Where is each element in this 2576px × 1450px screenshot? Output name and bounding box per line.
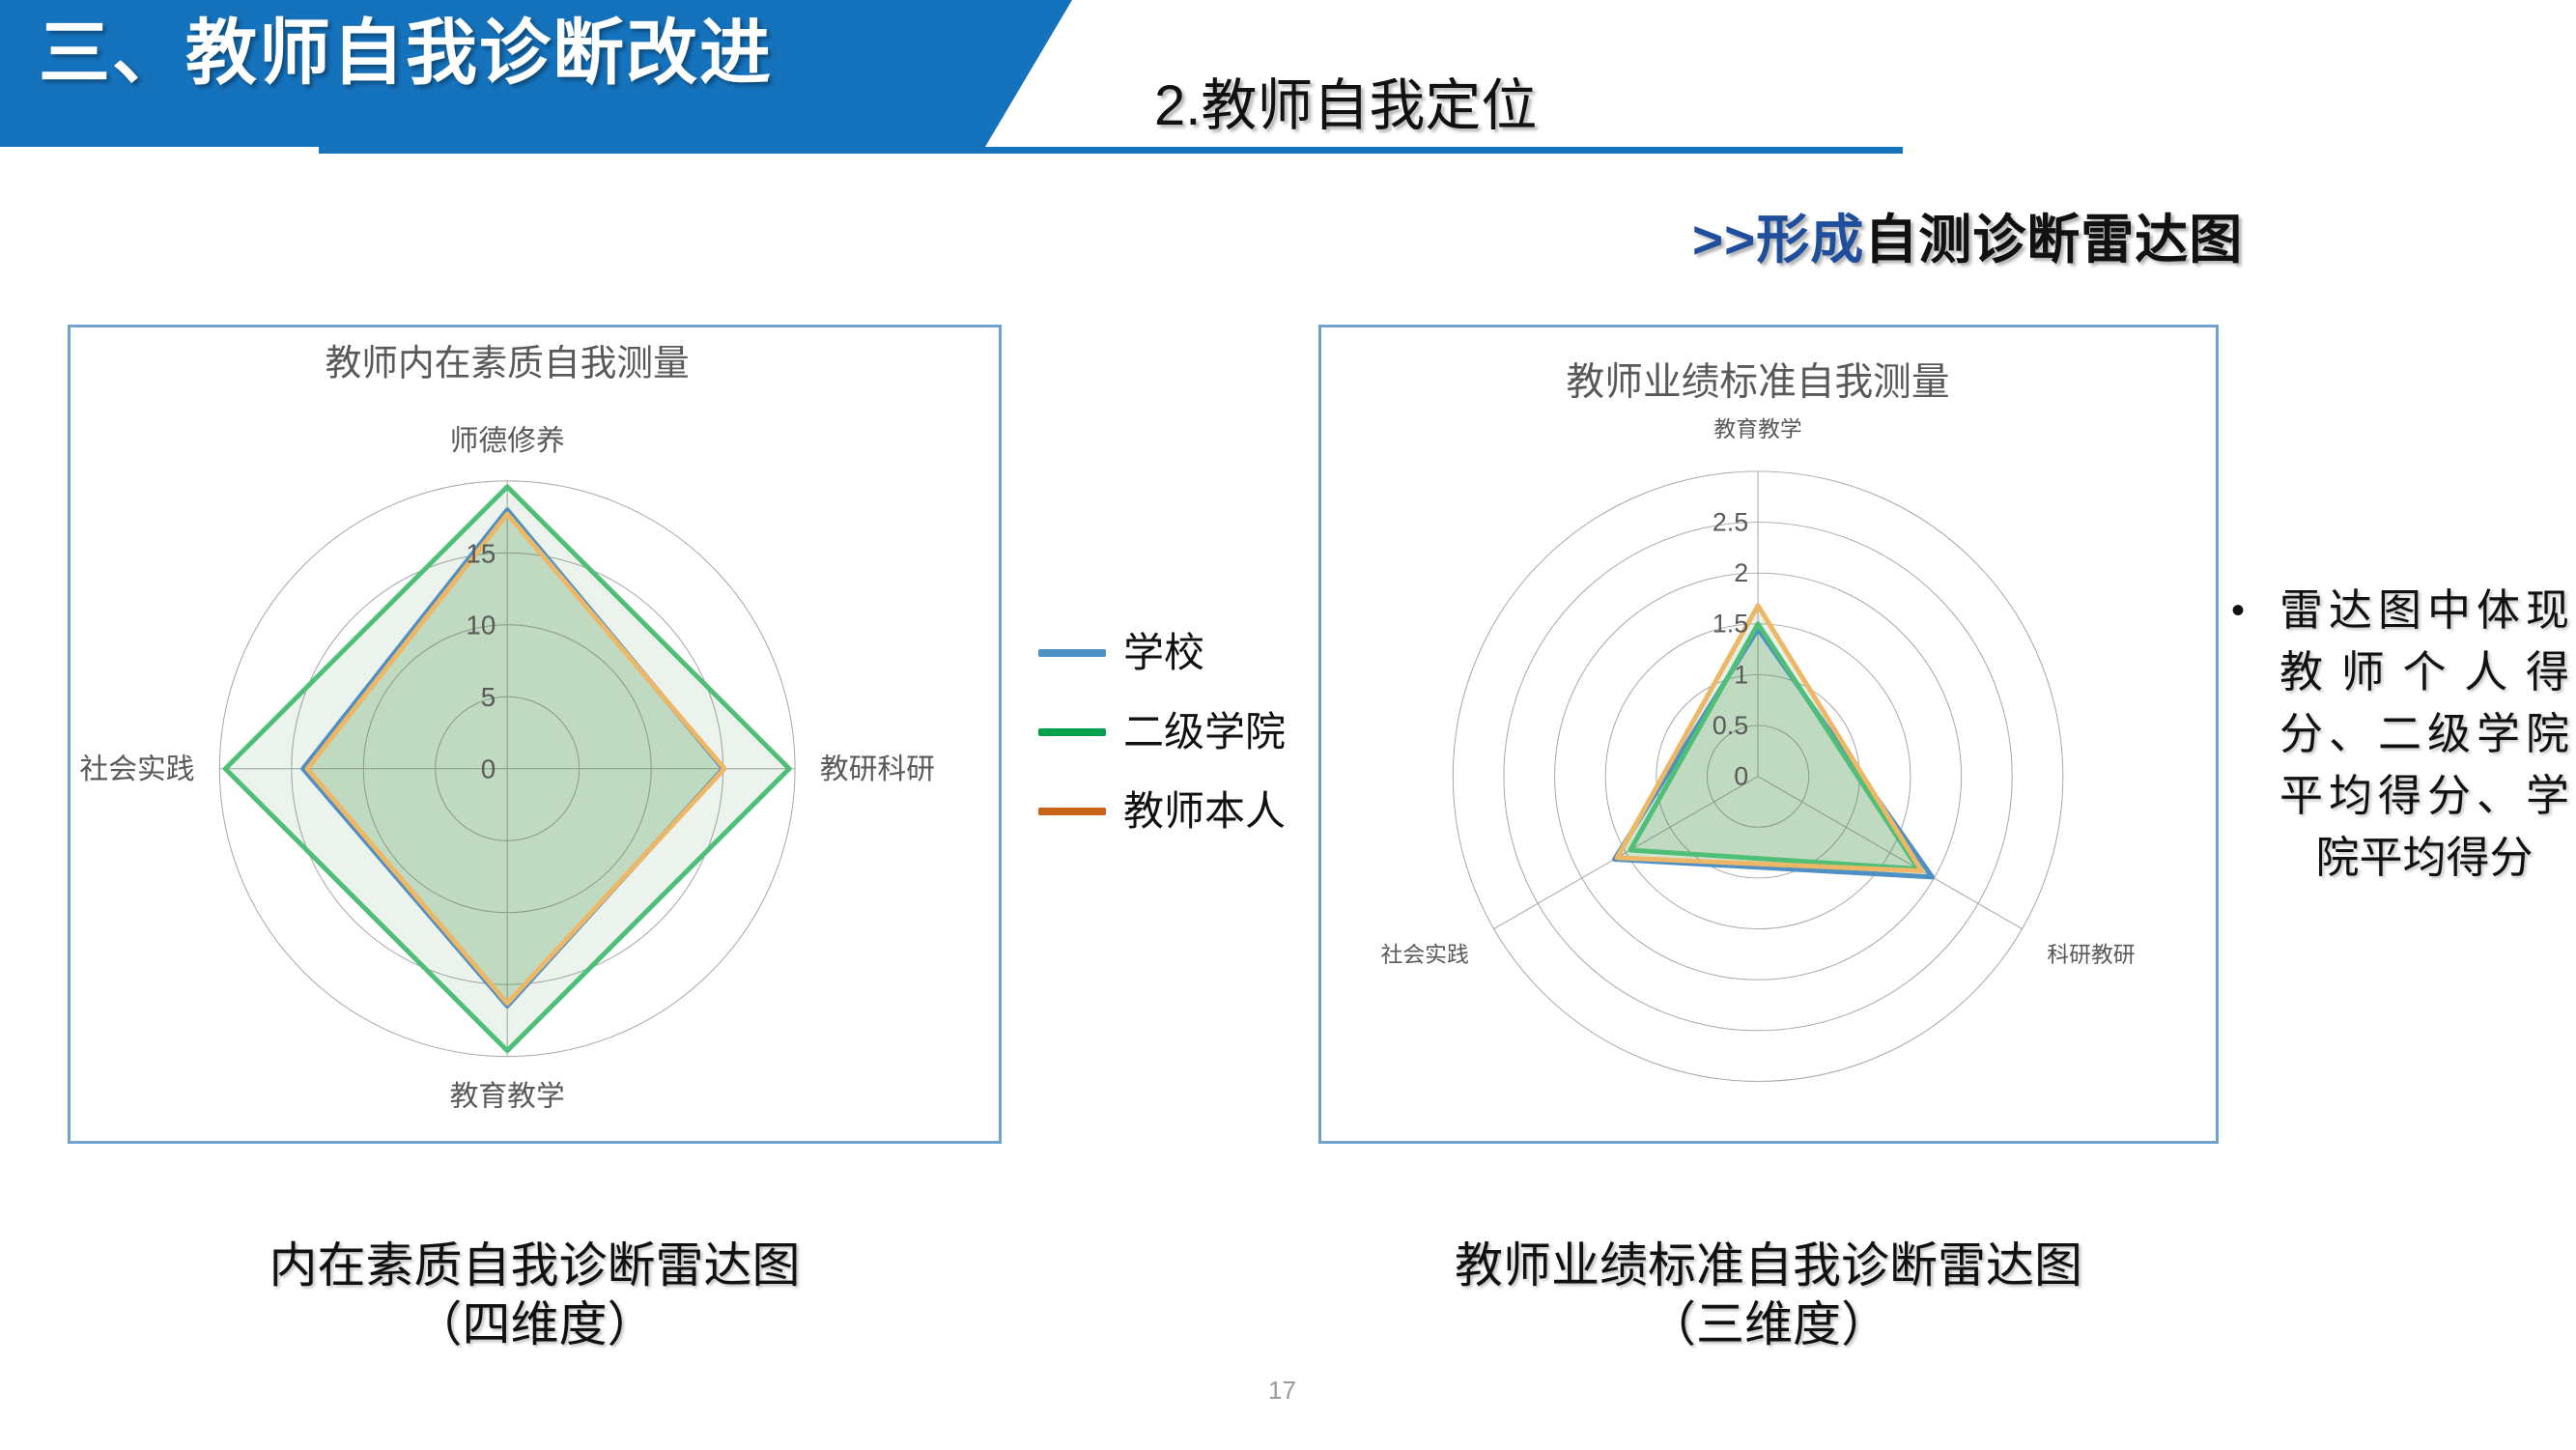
legend-label: 学校 — [1123, 633, 1204, 673]
legend-swatch-icon — [1038, 808, 1106, 815]
bullet-block: • 雷达图中体现教师个人得分、二级学院平均得分、学院平均得分 — [2279, 580, 2569, 888]
page-subtitle: 2.教师自我定位 — [1154, 60, 1537, 141]
radar-tick-label: 0 — [1734, 762, 1748, 791]
caption-right-line2: （三维度） — [1318, 1295, 2219, 1354]
radar-tick-label: 1.5 — [1713, 610, 1748, 639]
radar-tick-label: 5 — [481, 682, 495, 712]
caption-left: 内在素质自我诊断雷达图 （四维度） — [68, 1237, 1002, 1354]
legend-swatch-icon — [1038, 649, 1106, 657]
radar-category-label: 社会实践 — [1381, 942, 1469, 967]
radar-tick-label: 0 — [481, 754, 495, 784]
legend-item-2[interactable]: 二级学院 — [1038, 712, 1289, 753]
radar-tick-label: 0.5 — [1713, 711, 1748, 740]
radar-tick-label: 2 — [1734, 558, 1748, 587]
chart-title: 教师业绩标准自我测量 — [1567, 361, 1950, 404]
legend-swatch-icon — [1038, 728, 1106, 736]
caption-right-line1: 教师业绩标准自我诊断雷达图 — [1455, 1238, 2082, 1293]
radar-category-label: 教育教学 — [450, 1081, 565, 1113]
radar-svg-right: 教师业绩标准自我测量00.511.522.5教育教学科研教研社会实践 — [1321, 327, 2216, 1141]
radar-category-label: 教研科研 — [820, 753, 935, 785]
radar-category-label: 教育教学 — [1713, 416, 1801, 441]
radar-category-label: 师德修养 — [450, 425, 565, 457]
chart-inner-quality-radar: 教师内在素质自我测量051015师德修养教研科研教育教学社会实践 — [68, 325, 1002, 1144]
radar-tick-label: 15 — [466, 538, 495, 568]
radar-tick-label: 1 — [1734, 660, 1748, 689]
legend-label: 二级学院 — [1123, 712, 1286, 753]
radar-category-label: 科研教研 — [2047, 942, 2135, 967]
bullet-marker-icon: • — [2231, 591, 2245, 630]
radar-tick-label: 2.5 — [1713, 508, 1748, 537]
header-underline — [319, 147, 1903, 154]
legend-item-1[interactable]: 学校 — [1038, 633, 1289, 673]
caption-left-line1: 内在素质自我诊断雷达图 — [269, 1238, 801, 1293]
callout-suffix: 自测诊断雷达图 — [1864, 210, 2243, 270]
legend-item-3[interactable]: 教师本人 — [1038, 791, 1289, 832]
caption-left-line2: （四维度） — [68, 1295, 1002, 1354]
page-number: 17 — [1268, 1376, 1296, 1406]
callout-prefix: >>形成 — [1692, 210, 1864, 270]
legend-label: 教师本人 — [1123, 791, 1286, 832]
chart-legend: 学校二级学院教师本人 — [1038, 633, 1289, 870]
radar-category-label: 社会实践 — [79, 753, 194, 785]
caption-right: 教师业绩标准自我诊断雷达图 （三维度） — [1318, 1237, 2219, 1354]
callout-heading: >>形成自测诊断雷达图 — [1692, 196, 2243, 273]
bullet-text: 雷达图中体现教师个人得分、二级学院平均得分、学院平均得分 — [2279, 580, 2569, 888]
radar-svg-left: 教师内在素质自我测量051015师德修养教研科研教育教学社会实践 — [71, 327, 999, 1141]
chart-performance-standard-radar: 教师业绩标准自我测量00.511.522.5教育教学科研教研社会实践 — [1318, 325, 2219, 1144]
radar-series-fill-3 — [307, 514, 724, 1003]
radar-tick-label: 10 — [466, 611, 495, 640]
chart-title: 教师内在素质自我测量 — [326, 343, 690, 384]
section-title: 三、教师自我诊断改进 — [39, 17, 773, 89]
